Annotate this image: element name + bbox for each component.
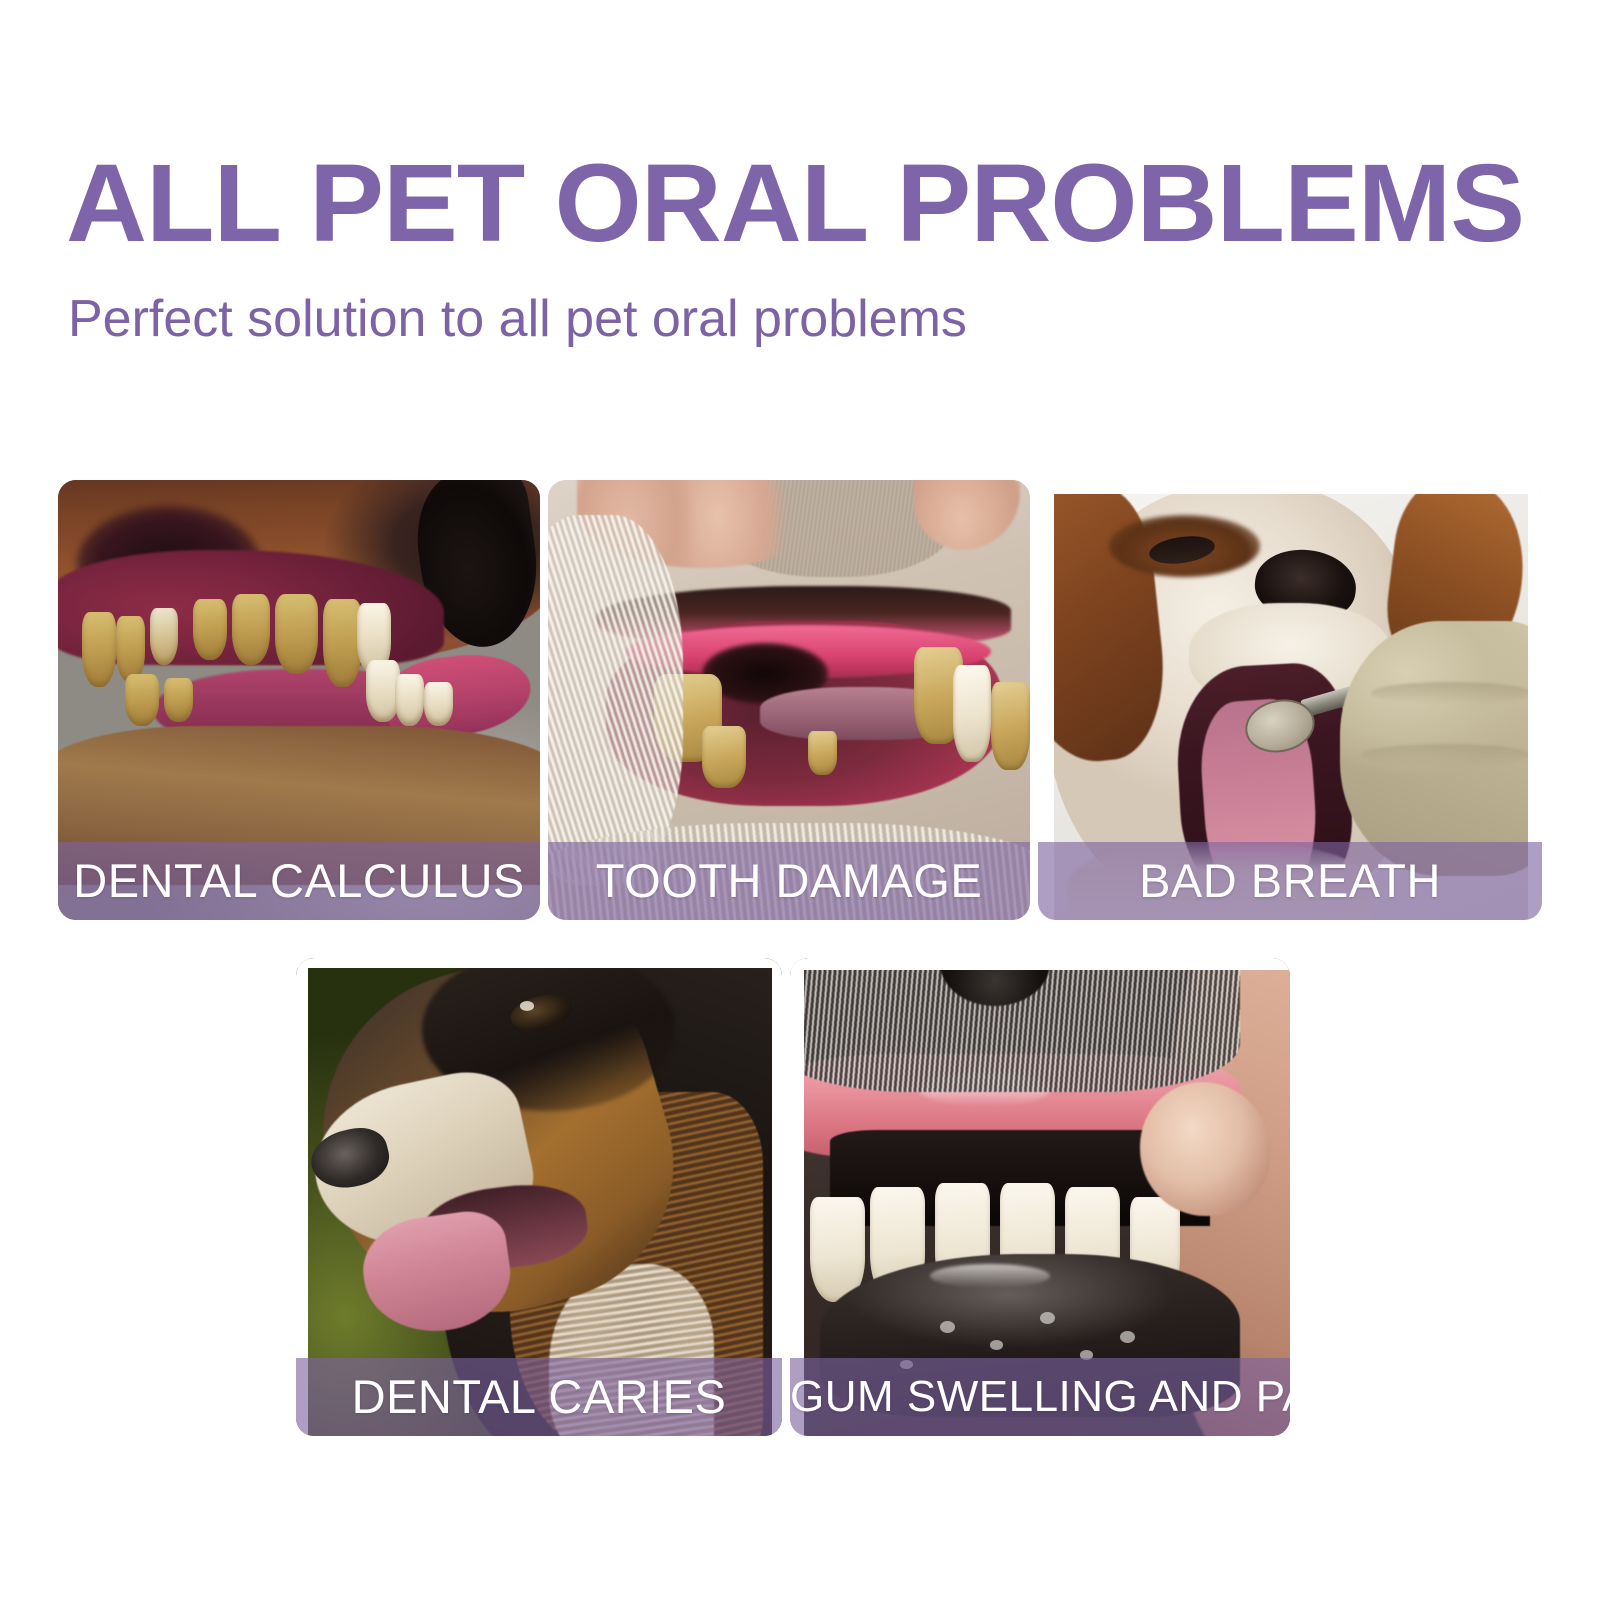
card-caption-bar: TOOTH DAMAGE xyxy=(548,842,1030,920)
problem-card-bad-breath[interactable]: BAD BREATH xyxy=(1038,480,1542,920)
card-caption-bar: DENTAL CALCULUS xyxy=(58,842,540,920)
page-subtitle: Perfect solution to all pet oral problem… xyxy=(68,288,967,350)
problem-card-gum-swelling[interactable]: GUM SWELLING AND PAIN xyxy=(790,958,1290,1436)
card-caption-bar: GUM SWELLING AND PAIN xyxy=(790,1358,1290,1436)
page-title: ALL PET ORAL PROBLEMS xyxy=(66,148,1524,260)
card-caption-label: DENTAL CARIES xyxy=(296,1371,782,1423)
problem-card-dental-caries[interactable]: DENTAL CARIES xyxy=(296,958,782,1436)
card-caption-label: DENTAL CALCULUS xyxy=(58,855,540,907)
card-caption-label: BAD BREATH xyxy=(1038,855,1542,907)
problem-card-dental-calculus[interactable]: DENTAL CALCULUS xyxy=(58,480,540,920)
problem-card-tooth-damage[interactable]: TOOTH DAMAGE xyxy=(548,480,1030,920)
card-caption-bar: BAD BREATH xyxy=(1038,842,1542,920)
card-caption-bar: DENTAL CARIES xyxy=(296,1358,782,1436)
card-caption-label: GUM SWELLING AND PAIN xyxy=(790,1371,1290,1423)
card-caption-label: TOOTH DAMAGE xyxy=(548,855,1030,907)
